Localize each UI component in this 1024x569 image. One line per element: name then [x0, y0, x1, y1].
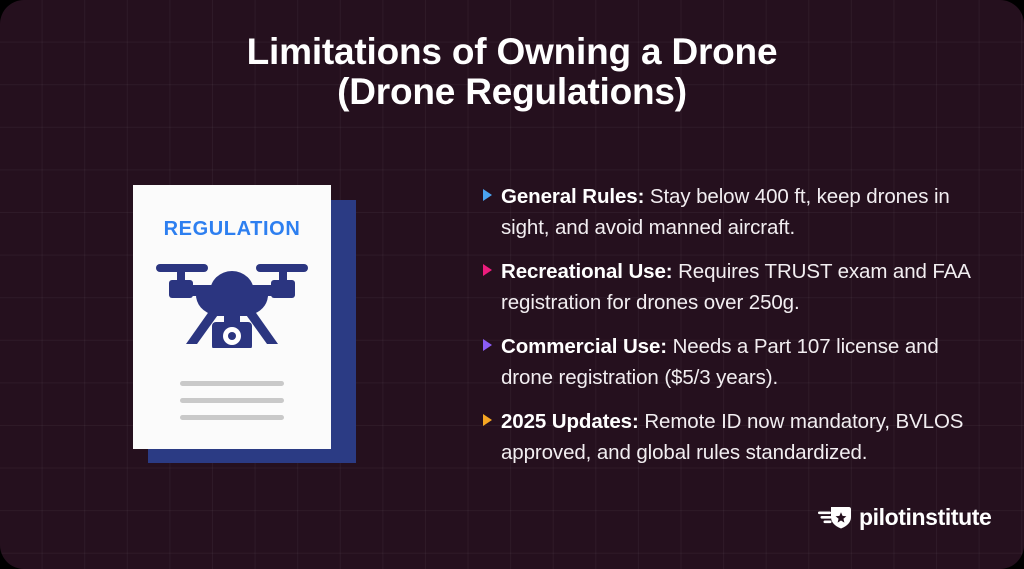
triangle-right-icon: [483, 189, 492, 201]
card-front-layer: REGULATION: [133, 185, 331, 449]
bullet-label: Recreational Use:: [501, 260, 672, 283]
bullet-list: General Rules: Stay below 400 ft, keep d…: [481, 182, 981, 482]
card-placeholder-line: [180, 381, 284, 386]
triangle-right-icon: [483, 339, 492, 351]
title-line-2: (Drone Regulations): [0, 72, 1024, 112]
bullet-body: General Rules: Stay below 400 ft, keep d…: [501, 185, 950, 239]
list-item: General Rules: Stay below 400 ft, keep d…: [481, 182, 981, 243]
bullet-body: Commercial Use: Needs a Part 107 license…: [501, 335, 939, 389]
triangle-right-icon: [483, 414, 492, 426]
card-placeholder-line: [180, 415, 284, 420]
title-line-1: Limitations of Owning a Drone: [0, 32, 1024, 72]
brand-logo: pilotinstitute: [818, 503, 991, 531]
card-heading: REGULATION: [133, 218, 331, 241]
logo-word-pilot: pilot: [859, 504, 906, 530]
list-item: 2025 Updates: Remote ID now mandatory, B…: [481, 407, 981, 468]
page-title: Limitations of Owning a Drone (Drone Reg…: [0, 32, 1024, 112]
bullet-label: General Rules:: [501, 185, 644, 208]
regulation-card: REGULATION: [133, 185, 363, 470]
drone-illustration-icon: [152, 248, 312, 348]
logo-wordmark: pilotinstitute: [859, 504, 991, 530]
bullet-label: 2025 Updates:: [501, 410, 639, 433]
winged-shield-star-icon: [818, 504, 852, 530]
list-item: Commercial Use: Needs a Part 107 license…: [481, 332, 981, 393]
card-placeholder-lines: [180, 381, 284, 432]
logo-word-institute: institute: [906, 504, 992, 530]
bullet-body: Recreational Use: Requires TRUST exam an…: [501, 260, 970, 314]
bullet-body: 2025 Updates: Remote ID now mandatory, B…: [501, 410, 963, 464]
list-item: Recreational Use: Requires TRUST exam an…: [481, 257, 981, 318]
card-placeholder-line: [180, 398, 284, 403]
slide-canvas: Limitations of Owning a Drone (Drone Reg…: [0, 0, 1024, 569]
bullet-label: Commercial Use:: [501, 335, 667, 358]
triangle-right-icon: [483, 264, 492, 276]
